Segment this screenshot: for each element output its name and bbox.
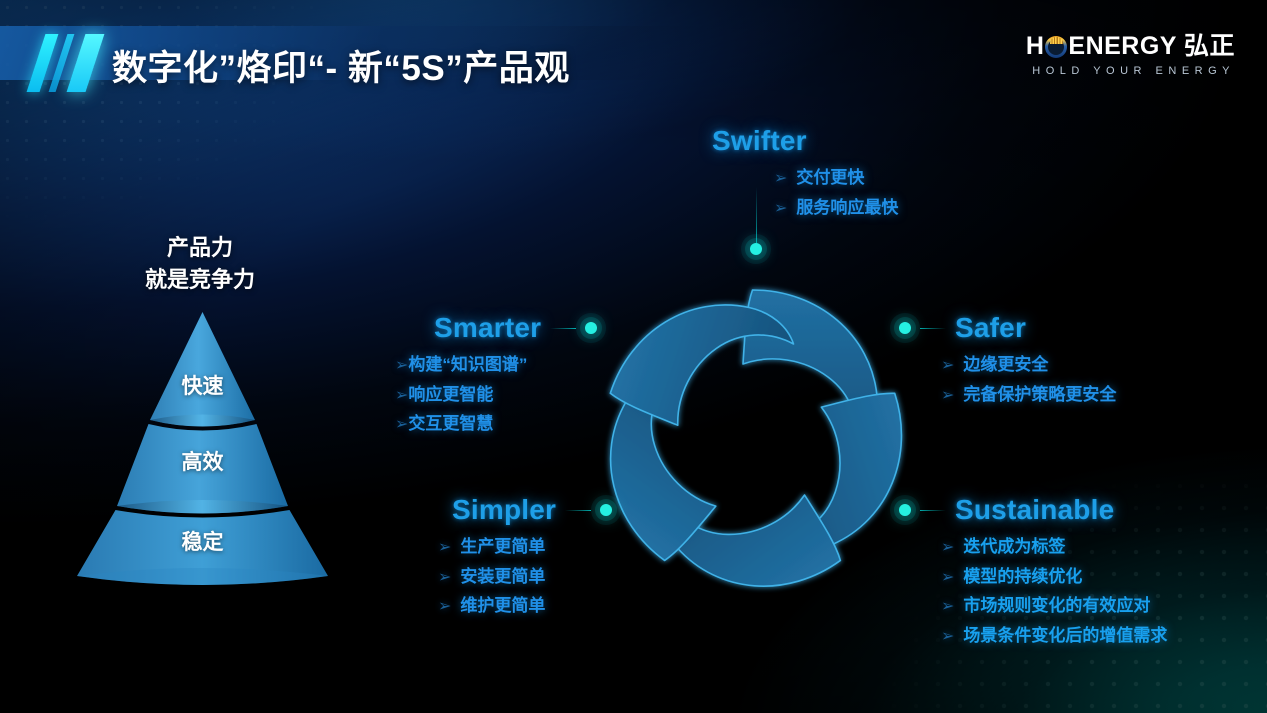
cluster-safer-list: ➢边缘更安全 ➢完备保护策略更安全 — [941, 350, 1116, 409]
logo-word-energy: ENERGY — [1068, 34, 1177, 59]
cluster-swifter-title: Swifter — [712, 125, 807, 157]
cluster-sustainable[interactable]: Sustainable ➢迭代成为标签 ➢模型的持续优化 ➢市场规则变化的有效应… — [899, 494, 1167, 650]
list-item-label: 交付更快 — [796, 163, 864, 192]
chevron-right-icon: ➢ — [941, 623, 954, 651]
list-item: ➢安装更简单 — [438, 562, 612, 592]
chevron-right-icon: ➢ — [941, 564, 954, 592]
cluster-simpler-title: Simpler — [452, 494, 556, 526]
cluster-smarter-title: Smarter — [434, 312, 541, 344]
connector-smarter — [550, 328, 576, 329]
list-item: ➢市场规则变化的有效应对 — [941, 591, 1167, 621]
list-item: ➢构建“知识图谱” — [395, 350, 597, 380]
connector-node-safer[interactable] — [899, 322, 911, 334]
connector-node-smarter[interactable] — [585, 322, 597, 334]
list-item-label: 模型的持续优化 — [963, 562, 1082, 591]
list-item-label: 交互更智慧 — [408, 409, 493, 438]
connector-node-simpler[interactable] — [600, 504, 612, 516]
cluster-safer-title: Safer — [955, 312, 1026, 344]
connector-safer — [920, 328, 946, 329]
list-item-label: 构建“知识图谱” — [408, 350, 527, 379]
connector-simpler — [565, 510, 591, 511]
list-item: ➢生产更简单 — [438, 532, 612, 562]
connector-line-safer — [920, 328, 946, 329]
connector-line-sustainable — [920, 510, 946, 511]
list-item-label: 安装更简单 — [460, 562, 545, 591]
chevron-right-icon: ➢ — [395, 352, 408, 380]
chevron-right-icon: ➢ — [941, 593, 954, 621]
list-item: ➢迭代成为标签 — [941, 532, 1167, 562]
cluster-simpler-header: Simpler — [452, 494, 612, 526]
connector-line-smarter — [550, 328, 576, 329]
list-item: ➢模型的持续优化 — [941, 562, 1167, 592]
connector-line-swifter — [756, 187, 757, 243]
connector-node-sustainable[interactable] — [899, 504, 911, 516]
chevron-right-icon: ➢ — [395, 382, 408, 410]
chevron-right-icon: ➢ — [941, 534, 954, 562]
logo-letter-h: H — [1026, 34, 1045, 59]
cluster-smarter-list: ➢构建“知识图谱” ➢响应更智能 ➢交互更智慧 — [395, 350, 597, 439]
logo-chinese-name: 弘正 — [1184, 34, 1235, 59]
connector-sustainable — [920, 510, 946, 511]
list-item-label: 迭代成为标签 — [963, 532, 1065, 561]
list-item-label: 维护更简单 — [460, 591, 545, 620]
pyramid-heading: 产品力 就是竞争力 — [70, 232, 330, 296]
slide-canvas: 数字化”烙印“- 新“5S”产品观 H ENERGY 弘正 HOLD YOUR … — [0, 0, 1267, 713]
list-item-label: 市场规则变化的有效应对 — [963, 591, 1150, 620]
chevron-right-icon: ➢ — [438, 564, 451, 592]
logo-wordmark: H ENERGY 弘正 — [1026, 34, 1235, 59]
logo-tagline: HOLD YOUR ENERGY — [1026, 66, 1235, 77]
list-item-label: 完备保护策略更安全 — [963, 380, 1116, 409]
list-item: ➢场景条件变化后的增值需求 — [941, 621, 1167, 651]
pyramid-level-label: 快速 — [60, 370, 345, 400]
pyramid-level-label: 稳定 — [60, 526, 345, 556]
list-item: ➢响应更智能 — [395, 380, 597, 410]
cluster-sustainable-title: Sustainable — [955, 494, 1114, 526]
five-petal-pinwheel-icon — [585, 272, 920, 607]
page-title: 数字化”烙印“- 新“5S”产品观 — [112, 40, 570, 91]
list-item: ➢维护更简单 — [438, 591, 612, 621]
list-item: ➢交付更快 — [774, 163, 898, 193]
pyramid-level-label: 高效 — [60, 446, 345, 476]
list-item-label: 响应更智能 — [408, 380, 493, 409]
list-item: ➢服务响应最快 — [774, 193, 898, 223]
list-item-label: 边缘更安全 — [963, 350, 1048, 379]
pyramid-heading-line2: 就是竞争力 — [70, 264, 330, 296]
connector-line-simpler — [565, 510, 591, 511]
cluster-sustainable-header: Sustainable — [899, 494, 1167, 526]
list-item-label: 场景条件变化后的增值需求 — [963, 621, 1167, 650]
cluster-swifter[interactable]: Swifter ➢交付更快 ➢服务响应最快 — [712, 125, 898, 222]
cluster-safer-header: Safer — [899, 312, 1116, 344]
cluster-smarter[interactable]: Smarter ➢构建“知识图谱” ➢响应更智能 ➢交互更智慧 — [434, 312, 597, 439]
list-item-label: 生产更简单 — [460, 532, 545, 561]
chevron-right-icon: ➢ — [438, 534, 451, 562]
cluster-sustainable-list: ➢迭代成为标签 ➢模型的持续优化 ➢市场规则变化的有效应对 ➢场景条件变化后的增… — [941, 532, 1167, 650]
list-item: ➢交互更智慧 — [395, 409, 597, 439]
list-item: ➢完备保护策略更安全 — [941, 380, 1116, 410]
pyramid-heading-line1: 产品力 — [70, 232, 330, 264]
chevron-right-icon: ➢ — [438, 593, 451, 621]
capability-pyramid: 快速 高效 稳定 — [60, 308, 345, 588]
sun-ring-icon — [1045, 36, 1067, 58]
list-item-label: 服务响应最快 — [796, 193, 898, 222]
chevron-right-icon: ➢ — [941, 352, 954, 380]
cluster-simpler[interactable]: Simpler ➢生产更简单 ➢安装更简单 ➢维护更简单 — [452, 494, 612, 621]
chevron-right-icon: ➢ — [395, 411, 408, 439]
cluster-smarter-header: Smarter — [434, 312, 597, 344]
list-item: ➢边缘更安全 — [941, 350, 1116, 380]
chevron-right-icon: ➢ — [941, 382, 954, 410]
connector-node-swifter[interactable] — [750, 243, 762, 255]
cluster-swifter-list: ➢交付更快 ➢服务响应最快 — [774, 163, 898, 222]
chevron-right-icon: ➢ — [774, 195, 787, 223]
cluster-simpler-list: ➢生产更简单 ➢安装更简单 ➢维护更简单 — [438, 532, 612, 621]
cluster-swifter-header: Swifter — [712, 125, 898, 157]
chevron-right-icon: ➢ — [774, 165, 787, 193]
cluster-safer[interactable]: Safer ➢边缘更安全 ➢完备保护策略更安全 — [899, 312, 1116, 409]
brand-logo: H ENERGY 弘正 HOLD YOUR ENERGY — [1026, 34, 1235, 77]
